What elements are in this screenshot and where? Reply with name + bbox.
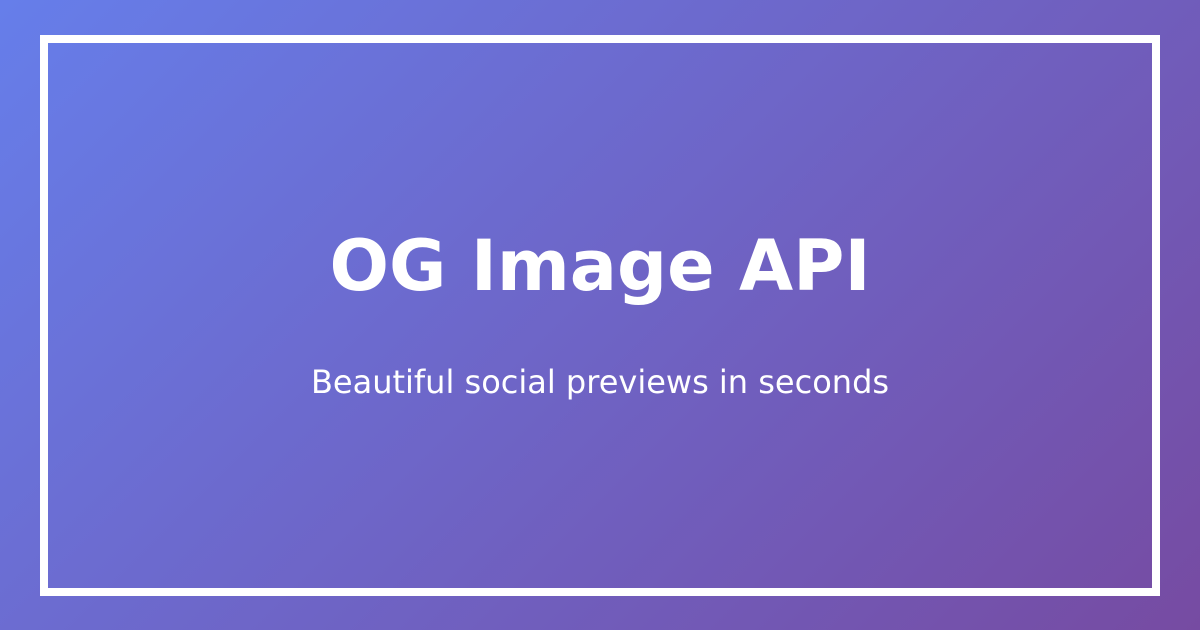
page-title: OG Image API bbox=[329, 228, 870, 305]
og-image-card: OG Image API Beautiful social previews i… bbox=[0, 0, 1200, 630]
page-subtitle: Beautiful social previews in seconds bbox=[311, 363, 889, 401]
card-content: OG Image API Beautiful social previews i… bbox=[0, 228, 1200, 401]
